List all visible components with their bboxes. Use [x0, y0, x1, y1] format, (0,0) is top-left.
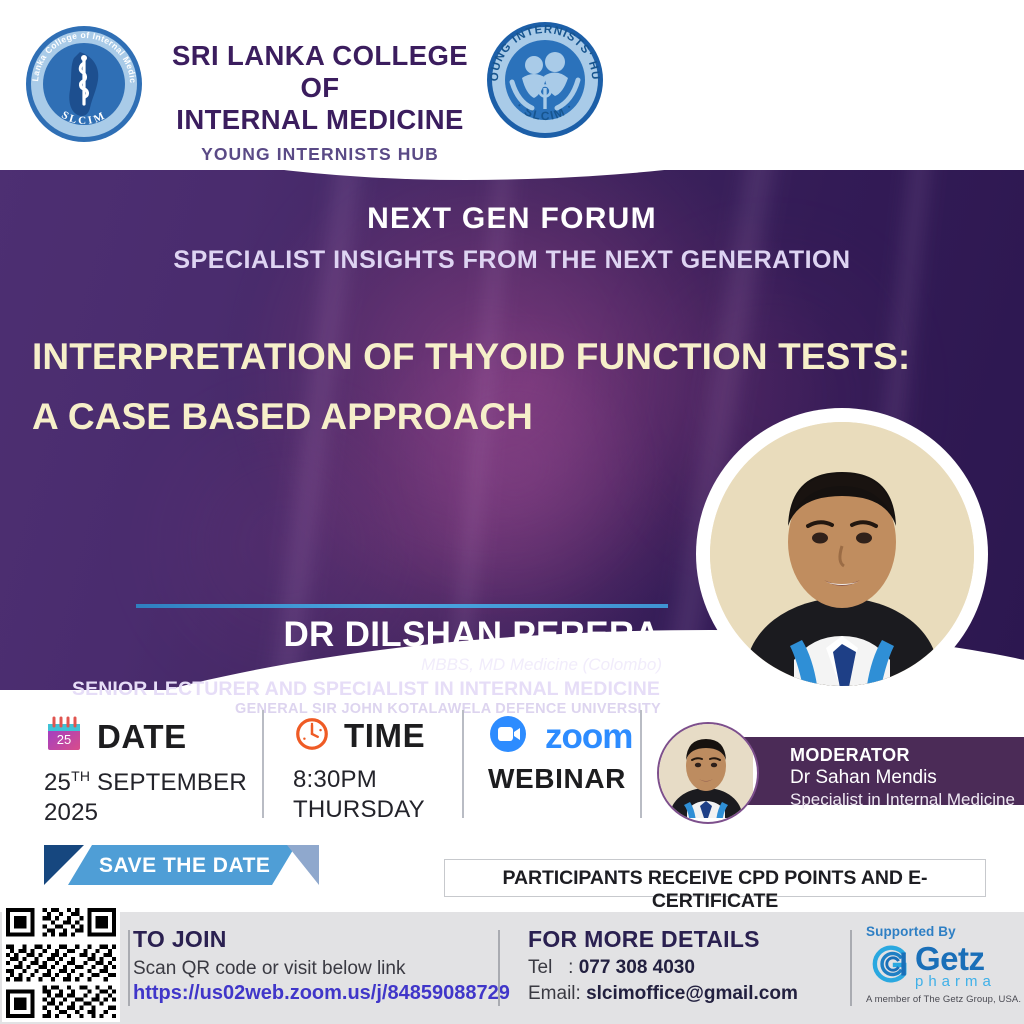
speaker-qualifications: MBBS, MD Medicine (Colombo) — [0, 655, 662, 675]
date-block: 25 DATE 25TH SEPTEMBER 2025 — [44, 714, 247, 827]
cpd-notice-label: PARTICIPANTS RECEIVE CPD POINTS AND E-CE… — [445, 867, 985, 913]
speaker-photo — [696, 408, 988, 700]
banner-light-triangle-icon — [287, 845, 319, 885]
speaker-photo-image — [710, 422, 974, 686]
info-divider — [640, 710, 642, 818]
details-heading: FOR MORE DETAILS — [528, 926, 798, 953]
telephone-separator: : — [568, 957, 573, 978]
email-value[interactable]: slcimoffice@gmail.com — [586, 983, 798, 1004]
forum-kicker: NEXT GEN FORUM — [0, 202, 1024, 236]
org-name-line1: SRI LANKA COLLEGE OF — [155, 40, 485, 104]
join-link[interactable]: https://us02web.zoom.us/j/84859088729 — [133, 982, 510, 1005]
clock-icon — [293, 714, 331, 757]
footer-divider — [128, 930, 130, 1006]
date-label: DATE — [97, 718, 187, 756]
webinar-label: WEBINAR — [488, 763, 632, 795]
zoom-camera-icon — [488, 714, 532, 759]
cpd-notice-box: PARTICIPANTS RECEIVE CPD POINTS AND E-CE… — [444, 859, 986, 897]
sponsor-name: Getz — [915, 943, 996, 974]
date-value-line1: 25TH SEPTEMBER — [44, 768, 247, 797]
moderator-text: MODERATOR Dr Sahan Mendis Specialist in … — [790, 745, 1015, 810]
footer-divider — [850, 930, 852, 1006]
young-internists-hub-logo-icon: YOUNG INTERNISTS' HUB · SLCIM · — [482, 14, 608, 146]
sponsor-subtitle: pharma — [915, 973, 996, 990]
poster-header: Sri Lanka College of Internal Medicine S… — [0, 0, 1024, 170]
time-value: 8:30PM — [293, 766, 425, 794]
calendar-day-number: 25 — [57, 732, 71, 747]
moderator-name: Dr Sahan Mendis — [790, 767, 1015, 789]
qr-code[interactable] — [2, 904, 120, 1022]
supported-by-label: Supported By — [866, 924, 1021, 939]
slcim-logo-icon: Sri Lanka College of Internal Medicine S… — [18, 18, 150, 150]
telephone-row: Tel : 077 308 4030 — [528, 957, 798, 979]
telephone-label: Tel — [528, 957, 552, 978]
info-divider — [262, 710, 264, 818]
forum-tagline: SPECIALIST INSIGHTS FROM THE NEXT GENERA… — [0, 246, 1024, 275]
calendar-icon: 25 — [44, 714, 84, 759]
join-block: TO JOIN Scan QR code or visit below link… — [133, 926, 510, 1005]
email-row: Email: slcimoffice@gmail.com — [528, 983, 798, 1005]
getz-logo-icon — [866, 942, 910, 991]
save-the-date-banner: SAVE THE DATE — [44, 845, 319, 885]
email-label: Email: — [528, 983, 581, 1004]
time-label: TIME — [344, 717, 425, 755]
info-divider — [462, 710, 464, 818]
organisation-title: SRI LANKA COLLEGE OF INTERNAL MEDICINE Y… — [155, 40, 485, 165]
telephone-value: 077 308 4030 — [579, 957, 695, 978]
moderator-photo — [657, 722, 759, 824]
save-the-date-label: SAVE THE DATE — [99, 854, 270, 878]
speaker-name: DR DILSHAN PERERA — [0, 615, 660, 655]
moderator-label: MODERATOR — [790, 745, 1015, 766]
sponsor-block: Supported By Getz pharma A member of The… — [866, 924, 1021, 1005]
date-value-line2: 2025 — [44, 799, 247, 827]
footer-divider — [498, 930, 500, 1006]
join-instruction: Scan QR code or visit below link — [133, 958, 510, 980]
webinar-poster: Sri Lanka College of Internal Medicine S… — [0, 0, 1024, 1024]
join-heading: TO JOIN — [133, 926, 510, 953]
speaker-divider — [136, 604, 668, 608]
platform-block: zoom WEBINAR — [488, 714, 632, 795]
moderator-role: Specialist in Internal Medicine — [790, 790, 1015, 810]
sponsor-note: A member of The Getz Group, USA. — [866, 994, 1021, 1005]
speaker-role: SENIOR LECTURER AND SPECIALIST IN INTERN… — [0, 678, 660, 701]
time-block: TIME 8:30PM THURSDAY — [293, 714, 425, 824]
poster-footer: TO JOIN Scan QR code or visit below link… — [0, 912, 1024, 1024]
topic-line-1: INTERPRETATION OF THYOID FUNCTION TESTS: — [32, 328, 962, 385]
contact-details-block: FOR MORE DETAILS Tel : 077 308 4030 Emai… — [528, 926, 798, 1005]
time-day: THURSDAY — [293, 796, 425, 824]
org-name-line2: INTERNAL MEDICINE — [155, 104, 485, 136]
zoom-wordmark: zoom — [545, 717, 632, 757]
org-subtitle: YOUNG INTERNISTS HUB — [155, 144, 485, 165]
